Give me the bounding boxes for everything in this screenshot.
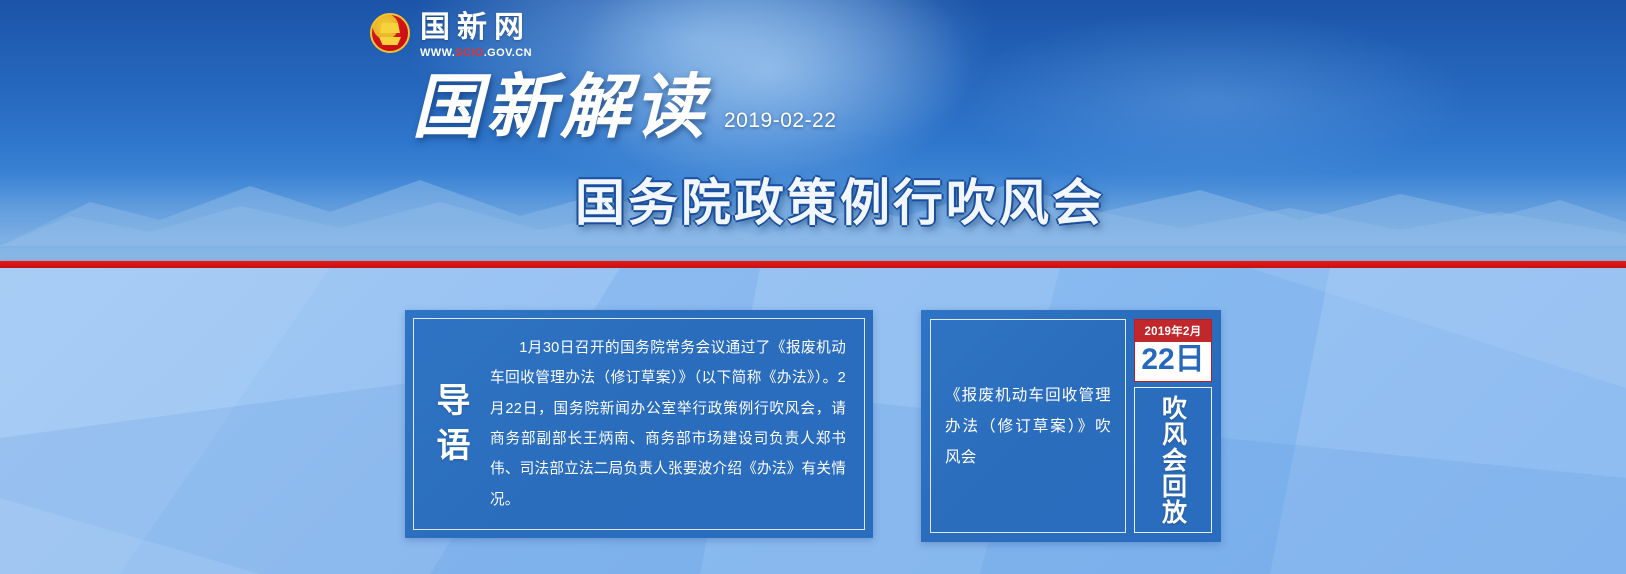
site-url-highlight: SCIO xyxy=(455,47,484,59)
site-name: 国新网 xyxy=(420,13,532,43)
date-year-month: 2019年2月 xyxy=(1135,320,1211,342)
event-card[interactable]: 《报废机动车回收管理办法（修订草案）》吹风会 2019年2月 22日 吹风会回放 xyxy=(921,310,1221,542)
cards-row: 导语 1月30日召开的国务院常务会议通过了《报废机动车回收管理办法（修订草案）》… xyxy=(0,310,1626,542)
page-root: 国新网 WWW.SCIO.GOV.CN 国新解读 2019-02-22 国务院政… xyxy=(0,0,1626,574)
site-logo[interactable]: 国新网 WWW.SCIO.GOV.CN xyxy=(370,13,532,59)
intro-text: 1月30日召开的国务院常务会议通过了《报废机动车回收管理办法（修订草案）》（以下… xyxy=(480,333,846,515)
hero-title-row: 国新解读 2019-02-22 xyxy=(412,72,836,142)
hero-banner: 国新网 WWW.SCIO.GOV.CN 国新解读 2019-02-22 国务院政… xyxy=(0,0,1626,262)
intro-card: 导语 1月30日召开的国务院常务会议通过了《报废机动车回收管理办法（修订草案）》… xyxy=(405,310,873,538)
intro-card-inner: 导语 1月30日召开的国务院常务会议通过了《报废机动车回收管理办法（修订草案）》… xyxy=(413,318,865,530)
logo-text-wrap: 国新网 WWW.SCIO.GOV.CN xyxy=(420,13,532,59)
replay-label: 吹风会回放 xyxy=(1160,395,1187,525)
site-url: WWW.SCIO.GOV.CN xyxy=(420,48,532,59)
site-url-prefix: WWW. xyxy=(420,47,455,59)
event-date-column: 2019年2月 22日 吹风会回放 xyxy=(1134,319,1212,533)
national-emblem-icon xyxy=(370,13,410,53)
hero-sub-title: 国务院政策例行吹风会 xyxy=(575,178,1105,228)
site-url-suffix: .GOV.CN xyxy=(484,47,532,59)
red-divider xyxy=(0,261,1626,268)
hero-main-title: 国新解读 xyxy=(412,72,708,142)
hero-date: 2019-02-22 xyxy=(724,109,836,142)
intro-label: 导语 xyxy=(428,379,480,469)
date-day: 22日 xyxy=(1135,342,1211,381)
replay-button[interactable]: 吹风会回放 xyxy=(1134,387,1212,533)
date-badge: 2019年2月 22日 xyxy=(1134,319,1212,382)
event-title-box: 《报废机动车回收管理办法（修订草案）》吹风会 xyxy=(930,319,1126,533)
event-title: 《报废机动车回收管理办法（修订草案）》吹风会 xyxy=(945,380,1111,473)
